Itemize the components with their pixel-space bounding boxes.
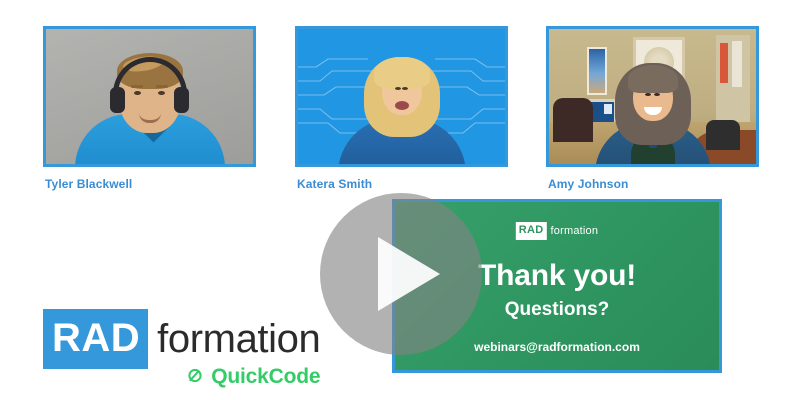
slide-logo-rad: RAD	[516, 222, 547, 240]
participant-name-label: Amy Johnson	[548, 177, 628, 191]
slide-logo: RAD formation	[516, 222, 598, 240]
magnifying-glass-icon	[186, 367, 206, 387]
headset-earcup-right	[174, 87, 189, 113]
wall-poster	[587, 47, 607, 95]
office-chair-left	[553, 98, 593, 142]
participant-video-tile[interactable]	[43, 26, 256, 167]
person-hair-top	[374, 57, 430, 89]
video-frame-amy-johnson	[549, 29, 756, 164]
slide-logo-formation: formation	[551, 225, 599, 237]
radformation-logo: RAD formation QuickCode	[43, 309, 320, 389]
logo-formation-text: formation	[157, 319, 320, 359]
product-name: QuickCode	[211, 365, 320, 389]
person-eye-right	[402, 87, 408, 90]
video-frame-tyler-blackwell	[46, 29, 253, 164]
person-hair-top	[628, 65, 678, 93]
headset-earcup-left	[110, 87, 125, 113]
person-eye-left	[395, 87, 401, 90]
logo-wordmark: RAD formation	[43, 309, 320, 369]
person-eye-left	[645, 93, 651, 96]
play-triangle-icon	[378, 237, 440, 311]
play-button[interactable]	[320, 193, 482, 355]
participant-name-label: Katera Smith	[297, 177, 372, 191]
product-lockup: QuickCode	[143, 365, 320, 389]
logo-rad-box: RAD	[43, 309, 148, 369]
person-eye-right	[654, 93, 660, 96]
participant-name-label: Tyler Blackwell	[45, 177, 132, 191]
bookshelf	[716, 35, 750, 131]
participant-video-tile[interactable]	[546, 26, 759, 167]
office-chair-right	[706, 120, 740, 150]
video-frame-katera-smith	[298, 29, 505, 164]
participant-video-tile[interactable]	[295, 26, 508, 167]
person-mouth	[395, 101, 409, 110]
